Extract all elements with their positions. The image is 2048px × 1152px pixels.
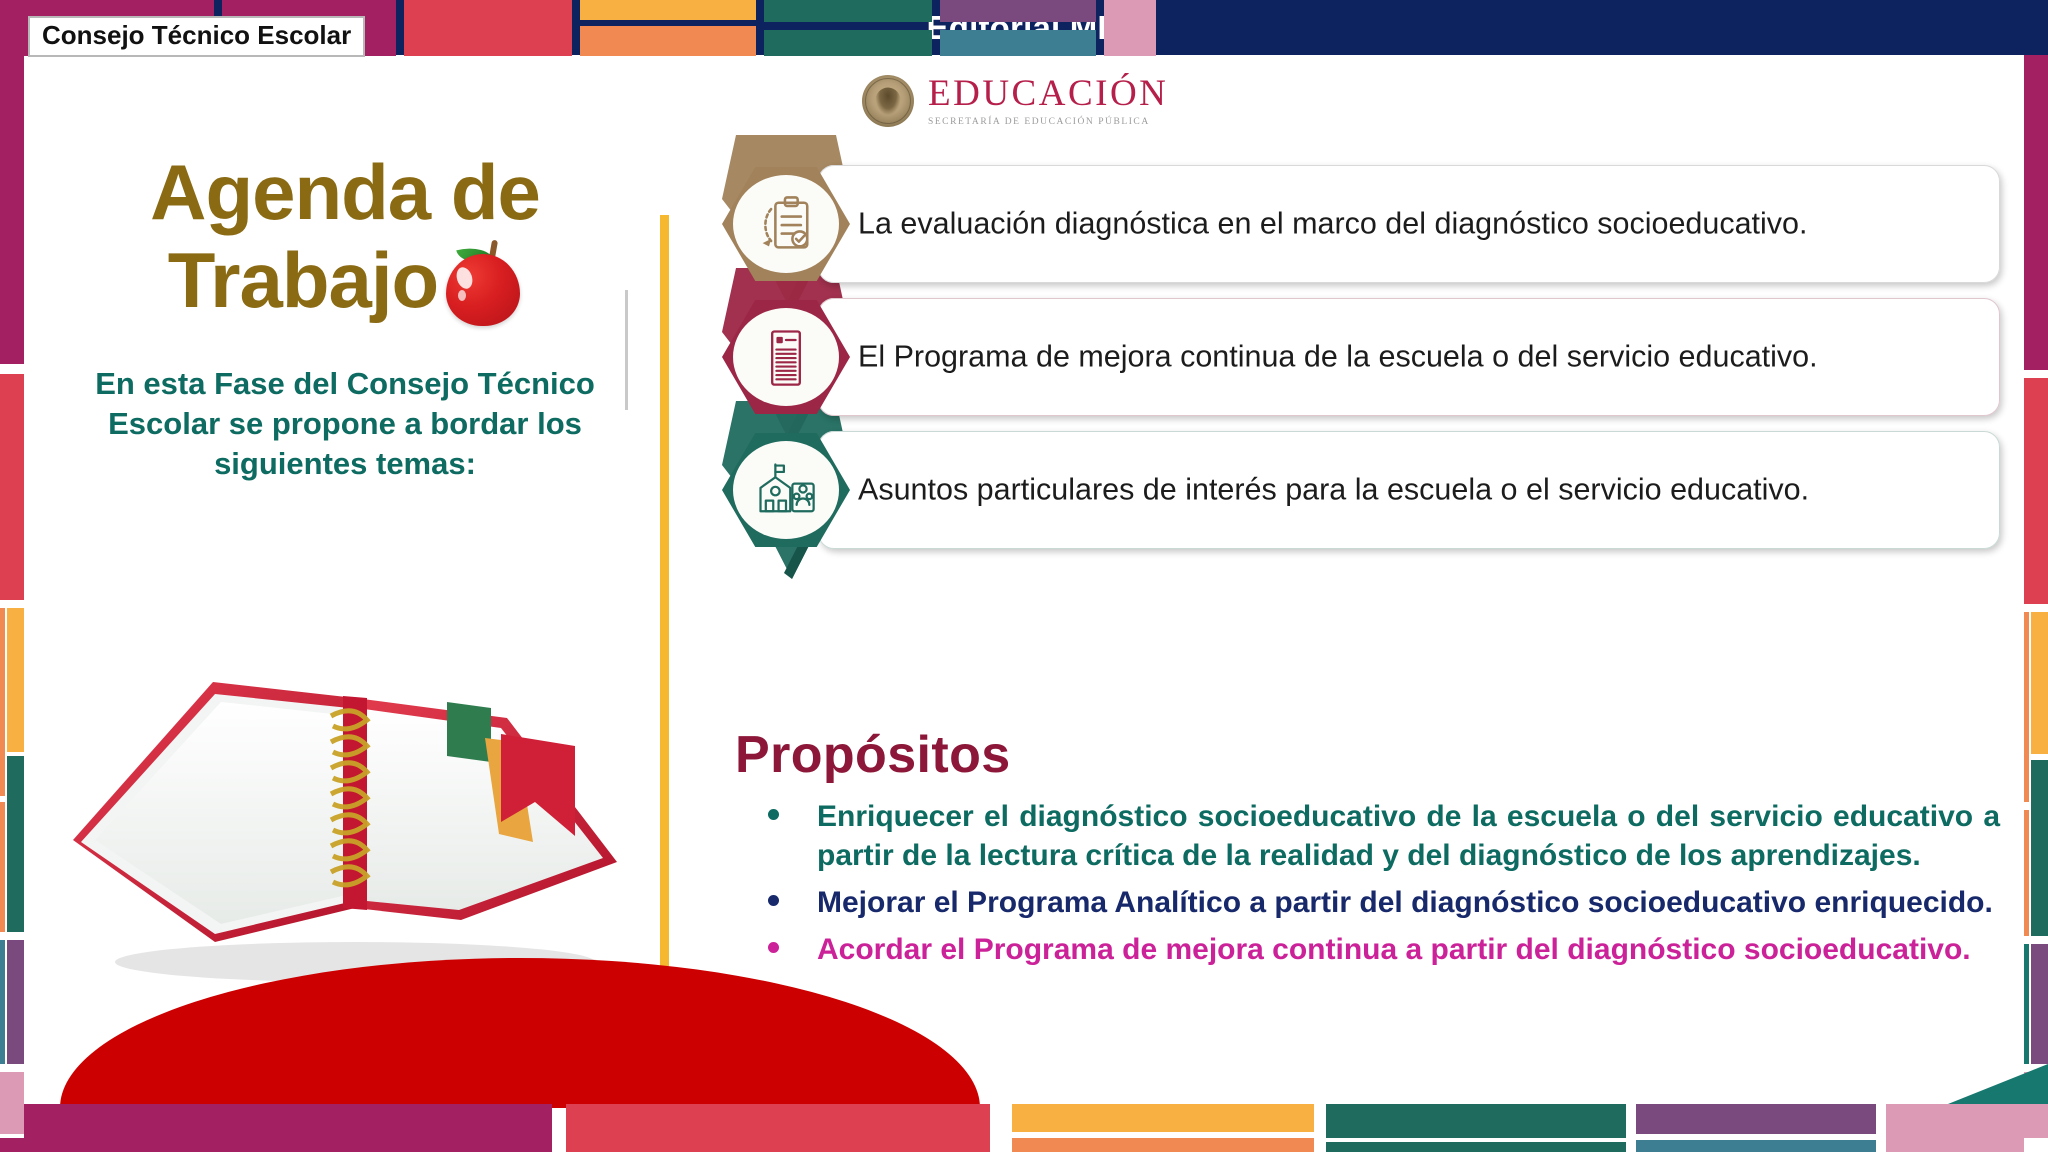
right-color-strip <box>2024 40 2048 1152</box>
page-title-line1: Agenda de <box>50 150 640 234</box>
intro-text: En esta Fase del Consejo Técnico Escolar… <box>50 364 640 483</box>
school-community-icon <box>752 456 820 524</box>
topic-badge-3 <box>722 433 850 547</box>
bullet-dot <box>768 809 779 820</box>
bullet-dot <box>768 942 779 953</box>
page-title: Agenda de Trabajo <box>50 150 640 326</box>
purposes-section: Propósitos Enriquecer el diagnóstico soc… <box>745 725 2000 977</box>
purpose-item-2: Mejorar el Programa Analítico a partir d… <box>745 883 2000 922</box>
bullet-dot <box>768 895 779 906</box>
left-color-strip <box>0 40 24 1152</box>
topic-card-2[interactable]: El Programa de mejora continua de la esc… <box>700 298 2000 416</box>
apple-icon <box>444 234 522 326</box>
topic-text-3: Asuntos particulares de interés para la … <box>858 470 1966 511</box>
gray-divider <box>625 290 628 410</box>
logo-subtitle: SECRETARÍA DE EDUCACIÓN PÚBLICA <box>928 117 1168 127</box>
page-title-line2: Trabajo <box>168 238 438 322</box>
purposes-heading: Propósitos <box>735 725 2000 785</box>
cte-tag-label: Consejo Técnico Escolar <box>28 16 365 57</box>
sep-education-logo: EDUCACIÓN SECRETARÍA DE EDUCACIÓN PÚBLIC… <box>862 72 1202 130</box>
topic-text-box-2: El Programa de mejora continua de la esc… <box>818 298 2000 416</box>
topic-card-3[interactable]: Asuntos particulares de interés para la … <box>700 431 2000 549</box>
topic-text-box-1: La evaluación diagnóstica en el marco de… <box>818 165 2000 283</box>
purpose-text-3: Acordar el Programa de mejora continua a… <box>817 933 1971 966</box>
topic-text-box-3: Asuntos particulares de interés para la … <box>818 431 2000 549</box>
topic-text-2: El Programa de mejora continua de la esc… <box>858 337 1966 378</box>
topic-badge-1 <box>722 167 850 281</box>
purpose-item-1: Enriquecer el diagnóstico socioeducativo… <box>745 797 2000 875</box>
topic-card-1[interactable]: La evaluación diagnóstica en el marco de… <box>700 165 2000 283</box>
national-shield-icon <box>862 75 914 127</box>
topics-list: La evaluación diagnóstica en el marco de… <box>700 165 2000 680</box>
gold-vertical-divider <box>660 215 669 1045</box>
purposes-list: Enriquecer el diagnóstico socioeducativo… <box>745 797 2000 969</box>
purpose-text-1: Enriquecer el diagnóstico socioeducativo… <box>817 800 2000 872</box>
clipboard-check-icon <box>752 190 820 258</box>
logo-title: EDUCACIÓN <box>928 75 1168 112</box>
left-column: Agenda de Trabajo En esta Fase del Conse… <box>50 150 640 483</box>
topic-text-1: La evaluación diagnóstica en el marco de… <box>858 204 1966 245</box>
purpose-item-3: Acordar el Programa de mejora continua a… <box>745 930 2000 969</box>
agenda-notebook-illustration <box>55 590 635 990</box>
document-lines-icon <box>752 323 820 391</box>
purpose-text-2: Mejorar el Programa Analítico a partir d… <box>817 886 1993 919</box>
topic-badge-2 <box>722 300 850 414</box>
bottom-decoration-blocks <box>0 1090 2048 1152</box>
